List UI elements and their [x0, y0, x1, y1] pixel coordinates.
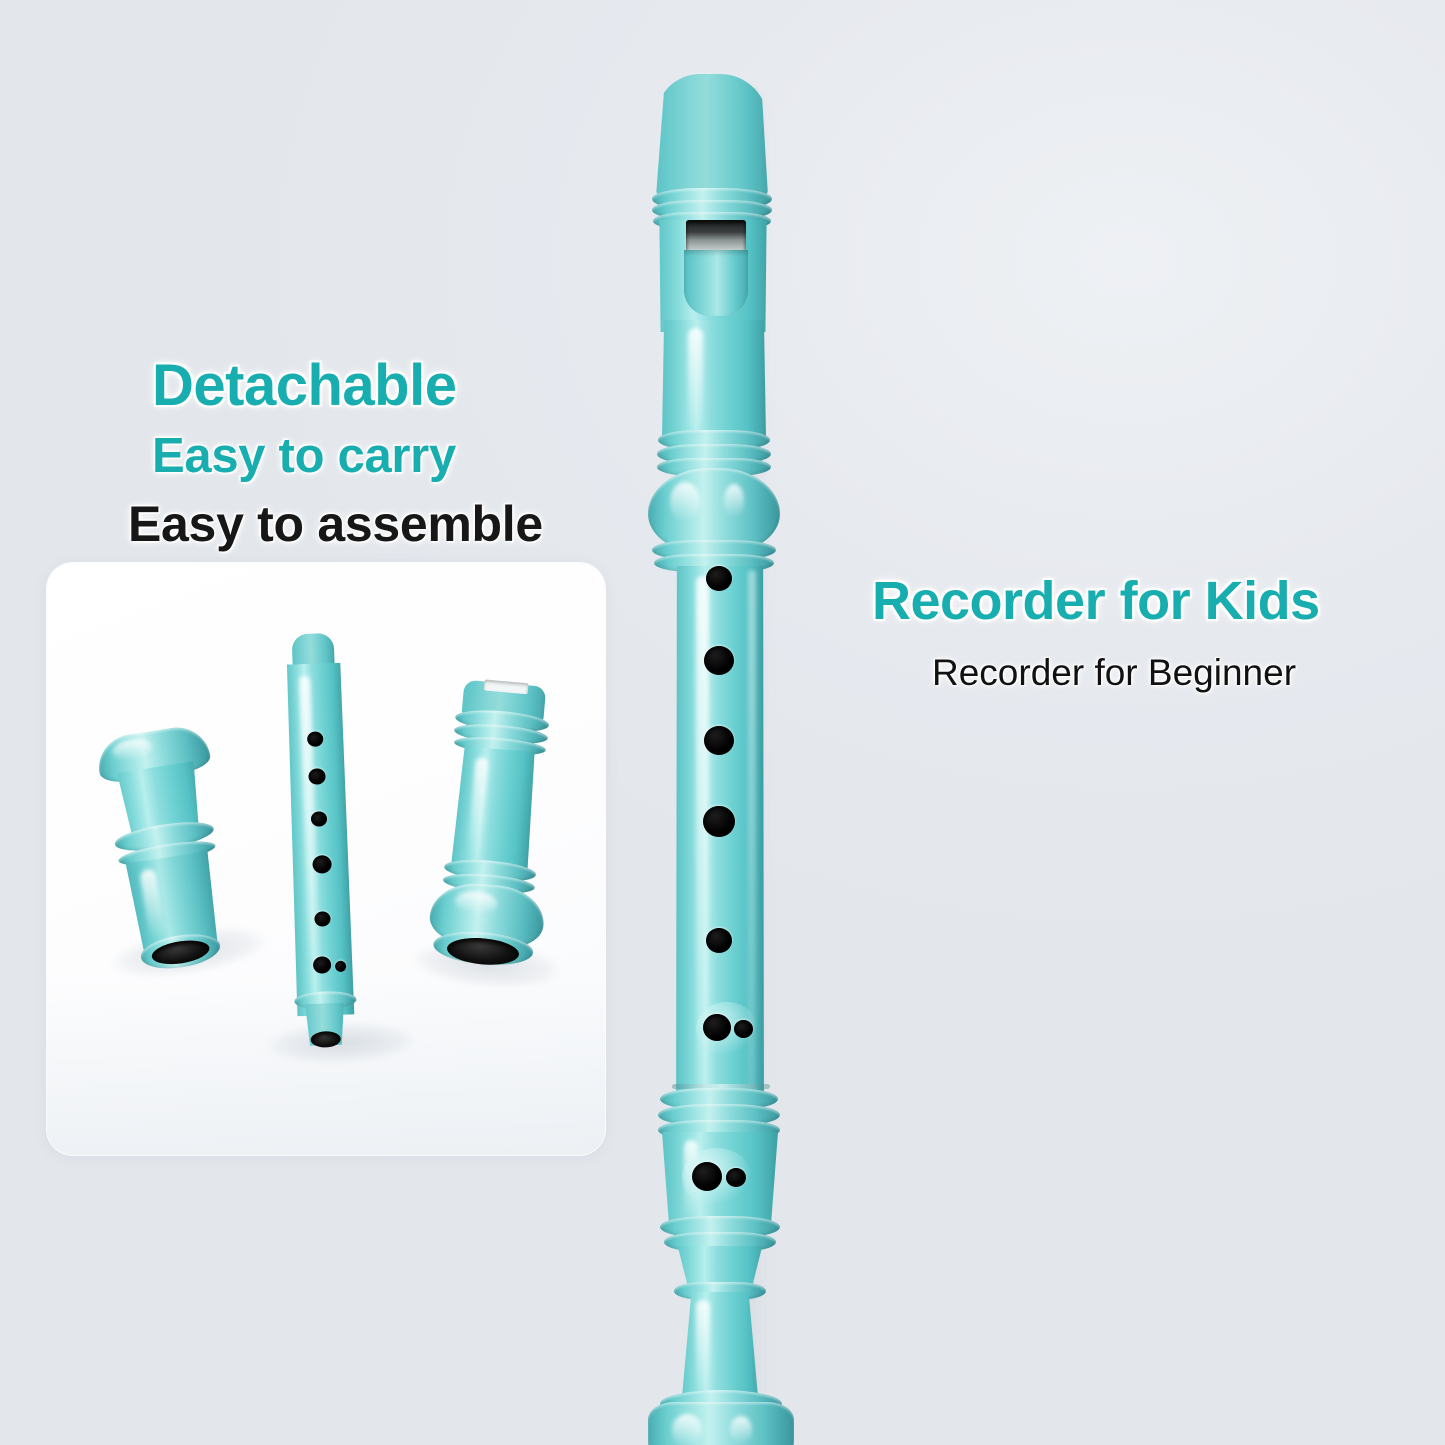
subline-easy-to-carry: Easy to carry: [152, 428, 456, 484]
bell-stem: [678, 1292, 762, 1404]
finger-hole-6a: [703, 1014, 731, 1041]
middle-top-tenon: [292, 633, 335, 668]
subline-easy-to-assemble: Easy to assemble: [128, 495, 543, 553]
finger-hole-5: [706, 928, 732, 953]
part-head-joint: [402, 675, 589, 1000]
finger-hole-7a: [692, 1162, 722, 1191]
head-upper-tube: [662, 320, 766, 438]
finger-hole-7b: [726, 1168, 746, 1187]
finger-hole-1: [706, 566, 732, 591]
middle-body-edge-highlight: [748, 570, 756, 1150]
mouthpiece-beak: [656, 74, 768, 196]
assembled-recorder: [620, 70, 830, 1440]
labium-ramp: [684, 250, 748, 316]
part-middle-body: [262, 629, 407, 1065]
head-body-tube: [451, 746, 539, 870]
subline-recorder-for-beginner: Recorder for Beginner: [932, 652, 1296, 694]
labium-window: [686, 220, 746, 252]
finger-hole-3: [704, 726, 734, 755]
finger-hole-2: [704, 646, 734, 675]
bell-flare: [648, 1402, 794, 1445]
part-foot-joint: [76, 712, 275, 994]
headline-detachable: Detachable: [152, 352, 456, 419]
finger-hole-6b: [734, 1020, 753, 1038]
product-image-canvas: Detachable Easy to carry Easy to assembl…: [0, 0, 1445, 1445]
finger-hole-4: [703, 806, 735, 837]
disassembled-parts-card: [47, 563, 605, 1155]
headline-recorder-for-kids: Recorder for Kids: [872, 570, 1320, 632]
